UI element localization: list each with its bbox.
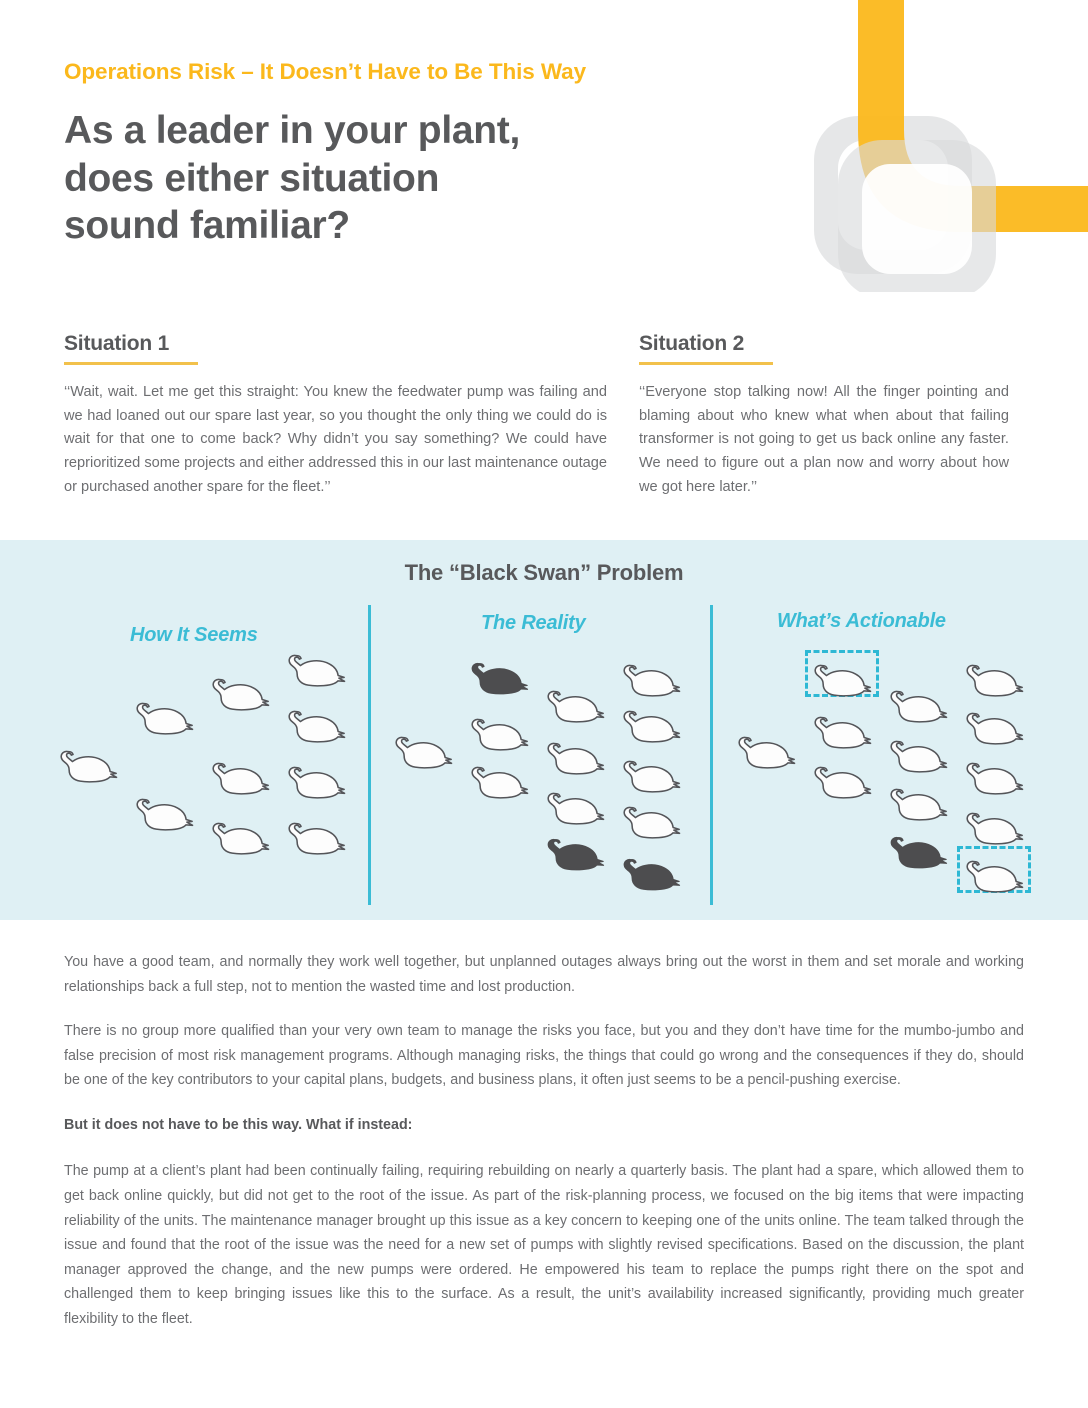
- white-swan-icon: [618, 754, 684, 800]
- white-swan-icon: [131, 792, 197, 838]
- article-body: You have a good team, and normally they …: [64, 950, 1024, 1352]
- situation-2: Situation 2 ‘‘Everyone stop talking now!…: [639, 332, 1009, 499]
- page-header: Operations Risk – It Doesn’t Have to Be …: [64, 58, 824, 250]
- situation-1-title: Situation 1: [64, 332, 607, 356]
- white-swan-icon: [809, 658, 875, 704]
- white-swan-icon: [466, 760, 532, 806]
- column-divider-1: [368, 605, 371, 905]
- white-swan-icon: [618, 704, 684, 750]
- black-swan-icon: [618, 852, 684, 898]
- white-swan-icon: [885, 782, 951, 828]
- white-swan-icon: [618, 800, 684, 846]
- headline-line-1: As a leader in your plant,: [64, 109, 520, 152]
- white-swan-icon: [207, 816, 273, 862]
- headline-line-3: sound familiar?: [64, 204, 350, 247]
- situation-1: Situation 1 ‘‘Wait, wait. Let me get thi…: [64, 332, 607, 499]
- white-swan-icon: [961, 806, 1027, 852]
- eyebrow-title: Operations Risk – It Doesn’t Have to Be …: [64, 58, 824, 85]
- body-paragraph-3: The pump at a client’s plant had been co…: [64, 1159, 1024, 1331]
- white-swan-icon: [283, 704, 349, 750]
- body-paragraph-1: You have a good team, and normally they …: [64, 950, 1024, 999]
- black-swan-icon: [542, 832, 608, 878]
- white-swan-icon: [466, 712, 532, 758]
- white-swan-icon: [283, 760, 349, 806]
- body-paragraph-2: There is no group more qualified than yo…: [64, 1019, 1024, 1093]
- swan-group-how-it-seems: [55, 648, 365, 908]
- white-swan-icon: [809, 710, 875, 756]
- white-swan-icon: [131, 696, 197, 742]
- white-swan-icon: [283, 648, 349, 694]
- white-swan-icon: [961, 658, 1027, 704]
- situation-1-underline: [64, 362, 198, 365]
- column-label-the-reality: The Reality: [481, 612, 586, 635]
- swan-group-whats-actionable: [733, 648, 1043, 908]
- situations-section: Situation 1 ‘‘Wait, wait. Let me get thi…: [64, 332, 1024, 499]
- column-label-how-it-seems: How It Seems: [130, 624, 258, 647]
- body-lead-bold: But it does not have to be this way. Wha…: [64, 1113, 1024, 1138]
- white-swan-icon: [283, 816, 349, 862]
- situation-1-body: ‘‘Wait, wait. Let me get this straight: …: [64, 381, 607, 499]
- situation-2-body: ‘‘Everyone stop talking now! All the fin…: [639, 381, 1009, 499]
- situation-2-title: Situation 2: [639, 332, 1009, 356]
- white-swan-icon: [885, 734, 951, 780]
- white-swan-icon: [390, 730, 456, 776]
- column-label-whats-actionable: What’s Actionable: [777, 610, 946, 633]
- black-swan-panel: The “Black Swan” Problem How It Seems Th…: [0, 540, 1088, 920]
- white-swan-icon: [961, 854, 1027, 900]
- column-divider-2: [710, 605, 713, 905]
- white-swan-icon: [542, 786, 608, 832]
- white-swan-icon: [542, 684, 608, 730]
- swan-group-the-reality: [390, 648, 705, 908]
- headline-line-2: does either situation: [64, 157, 439, 200]
- corner-decoration: [808, 0, 1088, 292]
- white-swan-icon: [618, 658, 684, 704]
- white-swan-icon: [542, 736, 608, 782]
- black-swan-icon: [466, 656, 532, 702]
- white-swan-icon: [961, 756, 1027, 802]
- page-title: As a leader in your plant, does either s…: [64, 107, 824, 250]
- white-swan-icon: [207, 672, 273, 718]
- white-swan-icon: [55, 744, 121, 790]
- white-swan-icon: [733, 730, 799, 776]
- white-swan-icon: [885, 684, 951, 730]
- black-swan-panel-title: The “Black Swan” Problem: [0, 560, 1088, 586]
- white-swan-icon: [961, 706, 1027, 752]
- black-swan-icon: [885, 830, 951, 876]
- white-swan-icon: [809, 760, 875, 806]
- white-swan-icon: [207, 756, 273, 802]
- situation-2-underline: [639, 362, 773, 365]
